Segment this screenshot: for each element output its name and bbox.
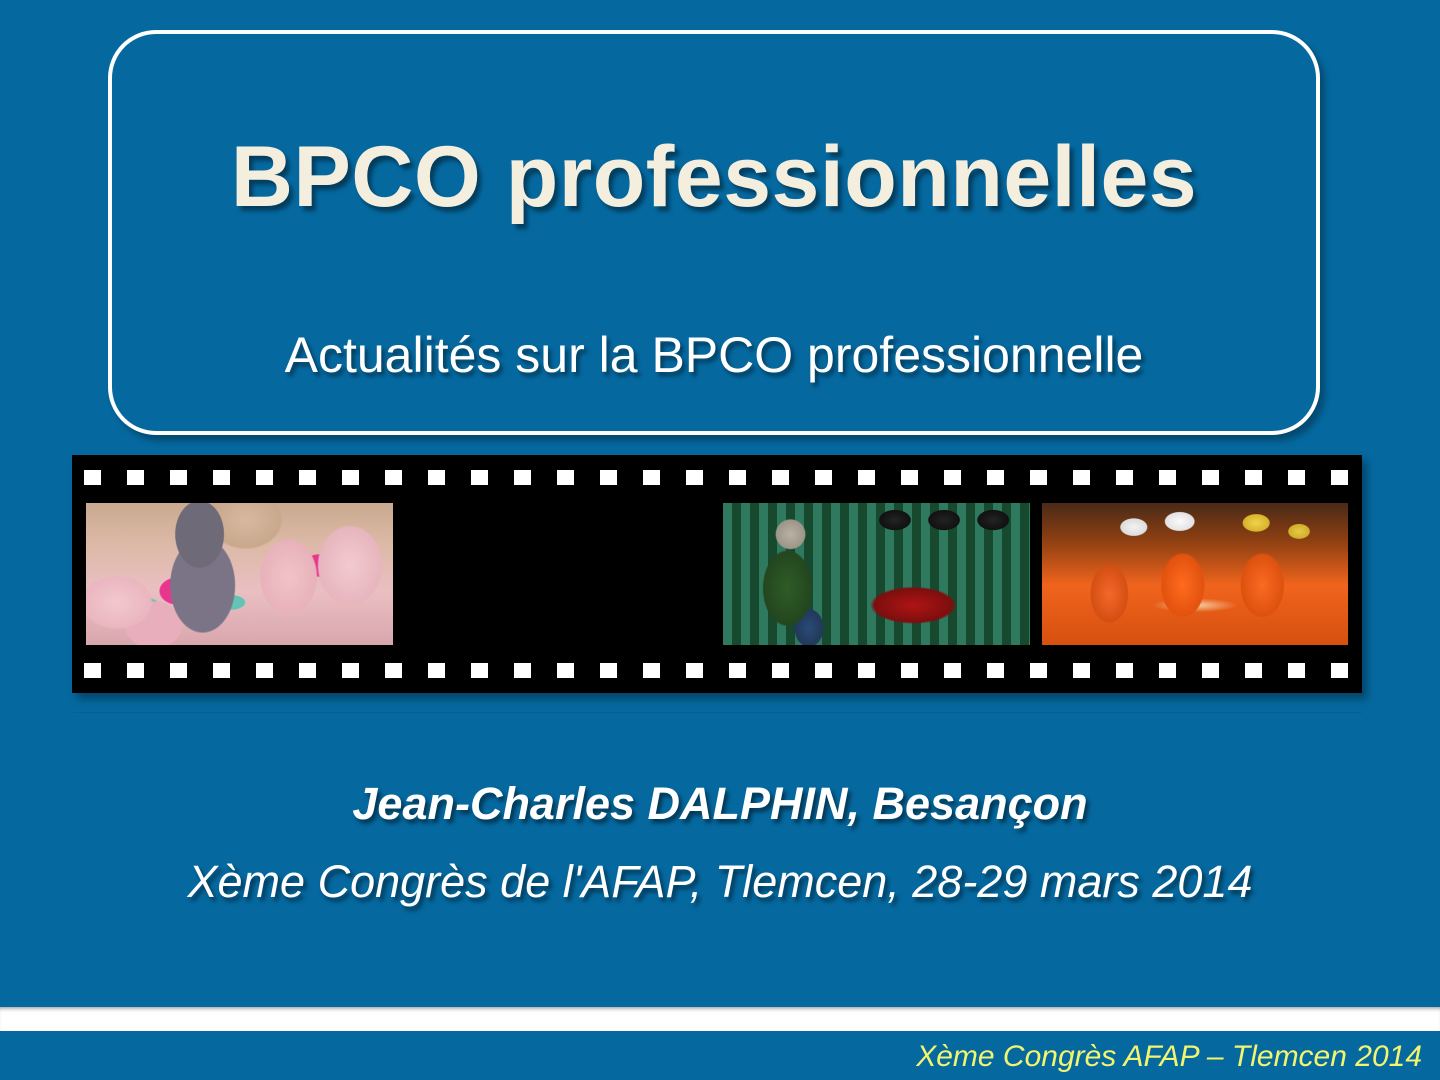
perforation-hole xyxy=(772,470,789,485)
perforation-hole xyxy=(858,663,875,678)
perforation-hole xyxy=(514,470,531,485)
perforation-hole xyxy=(127,663,144,678)
perforation-hole xyxy=(600,470,617,485)
perforation-hole xyxy=(1331,663,1348,678)
perforation-hole xyxy=(686,663,703,678)
perforation-hole xyxy=(901,470,918,485)
filmstrip-image xyxy=(72,455,1362,693)
film-frame-foundry xyxy=(405,503,712,645)
footer-congress-label: Xème Congrès AFAP – Tlemcen 2014 xyxy=(916,1040,1422,1074)
perforation-hole xyxy=(84,663,101,678)
perforation-hole xyxy=(299,663,316,678)
perforation-hole xyxy=(686,470,703,485)
perforation-hole xyxy=(1073,470,1090,485)
perforation-hole xyxy=(815,470,832,485)
perforation-hole xyxy=(256,470,273,485)
perforation-hole xyxy=(213,663,230,678)
perforation-hole xyxy=(170,470,187,485)
film-frame-factory xyxy=(723,503,1030,645)
construction-workers-photo xyxy=(1042,503,1349,645)
foundry-photo xyxy=(405,503,712,645)
perforation-hole xyxy=(1202,663,1219,678)
perforation-hole xyxy=(1159,663,1176,678)
perforation-hole xyxy=(1159,470,1176,485)
author-name: Jean-Charles DALPHIN, Besançon xyxy=(0,778,1440,830)
perforation-hole xyxy=(299,470,316,485)
filmstrip-body xyxy=(72,455,1362,693)
pig-farming-photo xyxy=(86,503,393,645)
perforation-hole xyxy=(1202,470,1219,485)
film-frame-construction xyxy=(1042,503,1349,645)
perforation-hole xyxy=(471,663,488,678)
perforation-hole xyxy=(1245,663,1262,678)
perforation-hole xyxy=(772,663,789,678)
perforation-hole xyxy=(987,470,1004,485)
perforation-hole xyxy=(1245,470,1262,485)
perforation-hole xyxy=(1331,470,1348,485)
perforation-hole xyxy=(600,663,617,678)
perforation-hole xyxy=(385,663,402,678)
perforation-hole xyxy=(170,663,187,678)
perforation-hole xyxy=(557,470,574,485)
perforation-hole xyxy=(471,470,488,485)
perforation-hole xyxy=(84,470,101,485)
page-title: BPCO professionnelles xyxy=(108,128,1320,227)
perforation-hole xyxy=(944,470,961,485)
perforation-hole xyxy=(858,470,875,485)
perforation-hole xyxy=(944,663,961,678)
congress-info: Xème Congrès de l'AFAP, Tlemcen, 28-29 m… xyxy=(0,856,1440,908)
perforation-hole xyxy=(514,663,531,678)
perforation-hole xyxy=(127,470,144,485)
perforation-hole xyxy=(385,470,402,485)
perforation-hole xyxy=(643,663,660,678)
perforation-hole xyxy=(342,663,359,678)
perforation-hole xyxy=(213,470,230,485)
perforation-hole xyxy=(428,663,445,678)
filmstrip-perforations-bottom xyxy=(72,662,1362,679)
filmstrip-perforations-top xyxy=(72,469,1362,486)
perforation-hole xyxy=(428,470,445,485)
perforation-hole xyxy=(1288,470,1305,485)
perforation-hole xyxy=(1030,663,1047,678)
perforation-hole xyxy=(815,663,832,678)
perforation-hole xyxy=(342,470,359,485)
perforation-hole xyxy=(729,470,746,485)
perforation-hole xyxy=(256,663,273,678)
perforation-hole xyxy=(643,470,660,485)
perforation-hole xyxy=(557,663,574,678)
perforation-hole xyxy=(901,663,918,678)
filmstrip-frames xyxy=(86,503,1348,645)
perforation-hole xyxy=(1116,663,1133,678)
perforation-hole xyxy=(1288,663,1305,678)
perforation-hole xyxy=(987,663,1004,678)
perforation-hole xyxy=(1073,663,1090,678)
perforation-hole xyxy=(729,663,746,678)
presentation-slide: BPCO professionnelles Actualités sur la … xyxy=(0,0,1440,1080)
perforation-hole xyxy=(1116,470,1133,485)
film-frame-pig-farming xyxy=(86,503,393,645)
perforation-hole xyxy=(1030,470,1047,485)
factory-photo xyxy=(723,503,1030,645)
footer-divider-band xyxy=(0,1007,1440,1031)
page-subtitle: Actualités sur la BPCO professionnelle xyxy=(108,326,1320,384)
